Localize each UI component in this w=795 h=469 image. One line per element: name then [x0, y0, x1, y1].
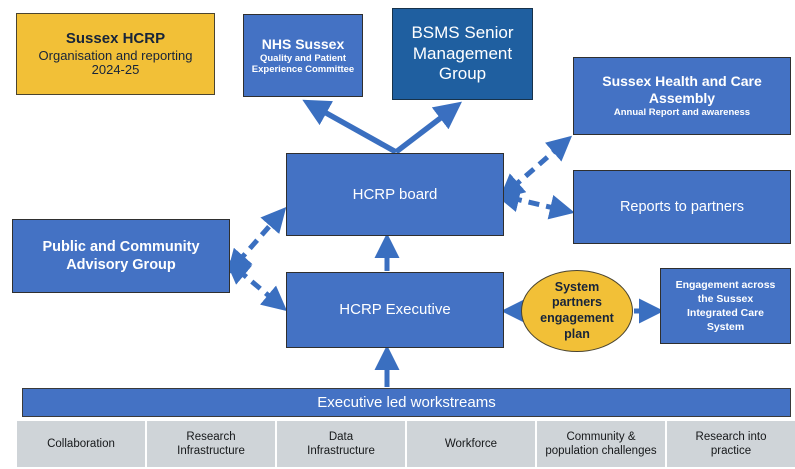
- workstreams-table: Collaboration Research Infrastructure Da…: [17, 421, 795, 467]
- node-engagement-across-line1: Engagement across: [676, 278, 776, 292]
- title-box: Sussex HCRP Organisation and reporting 2…: [16, 13, 215, 95]
- workstream-cell[interactable]: Research into practice: [667, 421, 795, 467]
- workstream-label-line1: Research: [177, 430, 245, 444]
- node-engagement-plan-line4: plan: [540, 327, 614, 343]
- workstream-label-line2: population challenges: [545, 444, 656, 458]
- node-engagement-plan-line2: partners: [540, 295, 614, 311]
- node-engagement-plan-line3: engagement: [540, 311, 614, 327]
- node-engagement-across-line3: Integrated Care: [687, 306, 764, 320]
- banner-label: Executive led workstreams: [317, 394, 495, 411]
- workstream-label-line1: Research into: [696, 430, 767, 444]
- node-nhs-sussex-title: NHS Sussex: [262, 36, 344, 52]
- node-engagement-plan-line1: System: [540, 280, 614, 296]
- node-engagement-across-ics[interactable]: Engagement across the Sussex Integrated …: [660, 268, 791, 344]
- node-bsms-line3: Group: [439, 64, 486, 84]
- banner-executive-led-workstreams[interactable]: Executive led workstreams: [22, 388, 791, 417]
- node-hcrp-board[interactable]: HCRP board: [286, 153, 504, 236]
- node-reports-to-partners[interactable]: Reports to partners: [573, 170, 791, 244]
- title-box-subtitle-line1: Organisation and reporting: [39, 49, 193, 64]
- workstream-label-line2: Infrastructure: [307, 444, 375, 458]
- node-nhs-sussex[interactable]: NHS Sussex Quality and Patient Experienc…: [243, 14, 363, 97]
- node-public-and-community-advisory-group[interactable]: Public and Community Advisory Group: [12, 219, 230, 293]
- node-sussex-health-and-care-assembly[interactable]: Sussex Health and Care Assembly Annual R…: [573, 57, 791, 135]
- workstream-label-line1: Community &: [545, 430, 656, 444]
- workstream-cell[interactable]: Workforce: [407, 421, 537, 467]
- workstream-label-line2: Infrastructure: [177, 444, 245, 458]
- connector-pcag-to-board: [238, 213, 281, 262]
- node-engagement-across-line2: the Sussex: [698, 292, 753, 306]
- node-assembly-subtitle: Annual Report and awareness: [614, 108, 750, 119]
- node-engagement-across-line4: System: [707, 320, 744, 334]
- connector-board-to-nhs-sussex: [310, 104, 396, 152]
- node-assembly-line2: Assembly: [649, 90, 715, 107]
- node-reports-to-partners-label: Reports to partners: [620, 199, 744, 216]
- title-box-subtitle-line2: 2024-25: [92, 63, 140, 78]
- node-hcrp-executive-label: HCRP Executive: [339, 301, 450, 318]
- node-pcag-line2: Advisory Group: [66, 256, 176, 274]
- workstream-cell[interactable]: Data Infrastructure: [277, 421, 407, 467]
- workstream-cell[interactable]: Research Infrastructure: [147, 421, 277, 467]
- connector-board-to-assembly: [512, 141, 566, 188]
- node-assembly-line1: Sussex Health and Care: [602, 73, 762, 90]
- title-box-title: Sussex HCRP: [66, 30, 165, 47]
- diagram-canvas: Sussex HCRP Organisation and reporting 2…: [0, 0, 795, 469]
- workstream-cell[interactable]: Community & population challenges: [537, 421, 667, 467]
- node-nhs-sussex-sub-line2: Experience Committee: [252, 65, 354, 76]
- workstream-label-line2: practice: [696, 444, 767, 458]
- node-bsms-senior-management-group[interactable]: BSMS Senior Management Group: [392, 8, 533, 100]
- workstream-label-line1: Data: [307, 430, 375, 444]
- node-hcrp-executive[interactable]: HCRP Executive: [286, 272, 504, 348]
- workstream-label-line1: Collaboration: [47, 437, 115, 451]
- connector-pcag-to-executive: [238, 270, 281, 306]
- node-bsms-line1: BSMS Senior: [411, 23, 513, 43]
- node-hcrp-board-label: HCRP board: [353, 186, 438, 203]
- workstream-cell[interactable]: Collaboration: [17, 421, 147, 467]
- node-bsms-line2: Management: [413, 44, 512, 64]
- node-pcag-line1: Public and Community: [42, 238, 199, 256]
- connector-board-to-bsms: [396, 107, 455, 152]
- node-nhs-sussex-sub-line1: Quality and Patient: [260, 54, 346, 65]
- node-system-partners-engagement-plan[interactable]: System partners engagement plan: [521, 270, 633, 352]
- connector-board-to-reports: [511, 198, 567, 211]
- workstream-label-line1: Workforce: [445, 437, 497, 451]
